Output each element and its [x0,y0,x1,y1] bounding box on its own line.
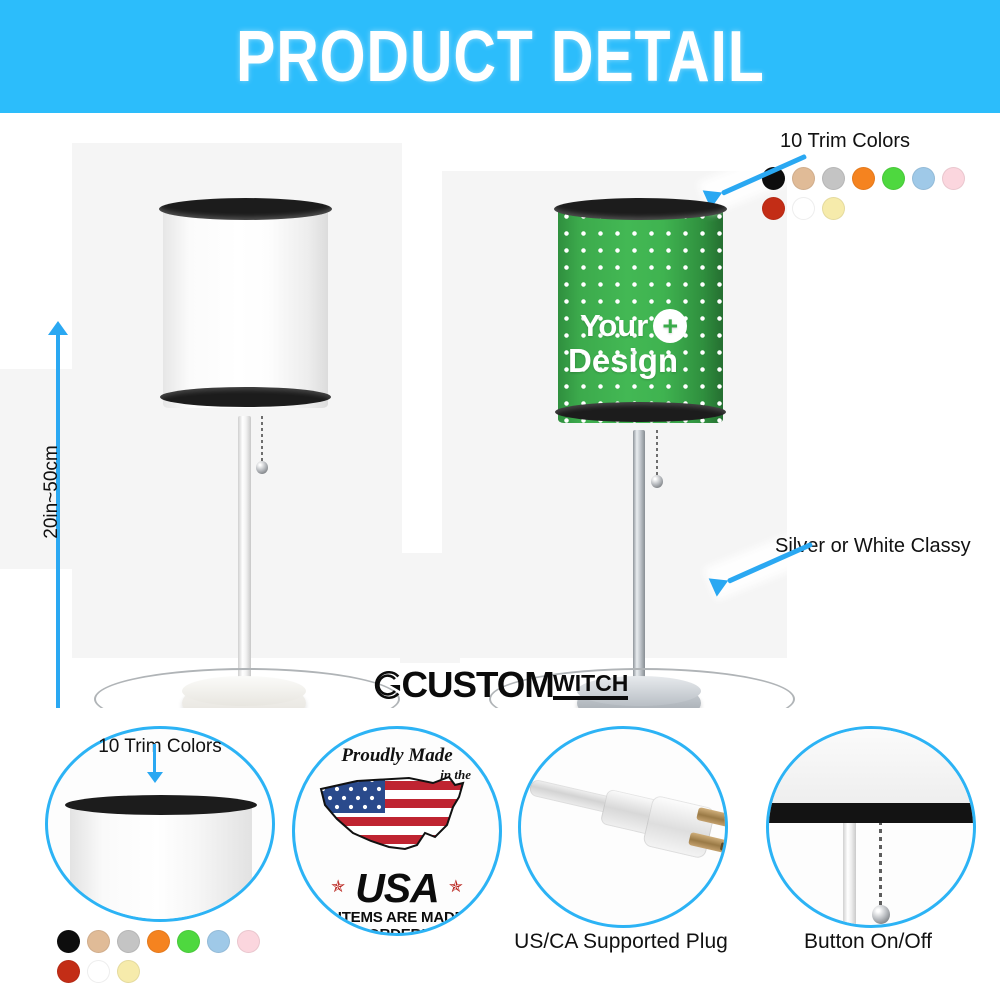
trim-color-swatch-orange[interactable] [852,167,875,190]
lamp-shade-green: Your + Design [558,198,723,413]
trim-color-swatch-light-blue[interactable] [207,930,230,953]
pull-chain[interactable] [656,430,658,478]
shade-trim-top [554,198,727,220]
feature-caption: Button On/Off [756,930,980,954]
trim-color-swatch-yellow[interactable] [822,197,845,220]
shade-surface [766,729,976,805]
badge-word: USA [295,865,499,912]
pull-chain[interactable] [261,416,263,464]
pull-chain-ball[interactable] [872,905,890,924]
feature-circle [766,726,976,928]
shade-trim-top [159,198,332,220]
lamp-pole [843,821,856,928]
design-line-1: Your [580,309,648,343]
shade-surface [70,803,252,922]
trim-color-swatch-gray[interactable] [117,930,140,953]
shade-surface [163,208,328,408]
design-line-1-row: Your + [558,309,723,343]
feature-caption: US/CA Supported Plug [500,930,742,954]
trim-color-swatch-red[interactable] [57,960,80,983]
pull-chain[interactable] [879,821,882,907]
trim-color-swatch-orange[interactable] [147,930,170,953]
trim-color-swatch-tan[interactable] [87,930,110,953]
brand-logo: CUSTOM WITCH [0,662,1000,708]
your-design-placeholder: Your + Design [558,309,723,379]
shade-trim-top [65,795,257,815]
bg-tile [400,553,460,663]
feature-circle [518,726,728,928]
logo-secondary-wrap: WITCH [553,671,628,700]
trim-color-swatch-pink[interactable] [237,930,260,953]
lamp-white [100,198,400,638]
product-stage: 7in~18cm 20in~50cm Your + [0,113,1000,660]
feature-switch: Button On/Off [766,718,991,1000]
pull-chain-ball[interactable] [651,475,663,488]
header-banner: PRODUCT DETAIL [0,0,1000,113]
star-right-icon: ✯ [449,877,463,897]
trim-color-swatch-green[interactable] [177,930,200,953]
pointer-line [153,744,156,774]
usa-flag-map-icon [313,763,483,863]
feature-made-in-usa: Proudly Made in the [292,718,502,1000]
logo-primary-text: CUSTOM [401,664,553,706]
badge-subtext: ALL ITEMS ARE MADE TO ORDER! [295,909,499,936]
trim-color-swatch-gray[interactable] [822,167,845,190]
feature-panels: 10 Trim Colors Proudly Made in the [0,708,1000,1000]
height-dimension-label: 20in~50cm [41,392,63,592]
trim-color-swatch-light-blue[interactable] [912,167,935,190]
logo-secondary-text: WITCH [553,671,628,695]
plus-icon: + [653,309,687,343]
trim-color-swatch-white[interactable] [87,960,110,983]
design-line-2: Design [558,343,723,379]
lamp-shade-white [163,198,328,398]
trim-color-swatch-black[interactable] [57,930,80,953]
trim-color-swatch-yellow[interactable] [117,960,140,983]
trim-color-swatch-green[interactable] [882,167,905,190]
base-finish-arrow [706,547,826,591]
shade-trim-bottom [160,387,331,407]
trim-colors-title: 10 Trim Colors [780,130,910,153]
trim-color-swatch-pink[interactable] [942,167,965,190]
feature-trim-colors: 10 Trim Colors [45,718,275,1000]
trim-colors-swatches-bottom [57,930,289,983]
arrow-line [721,154,807,196]
trim-colors-arrow [700,161,820,201]
feature-title: 10 Trim Colors [45,736,275,758]
pull-chain-ball[interactable] [256,461,268,474]
arrow-down-icon [147,772,163,783]
power-plug-icon [642,794,716,859]
page-title: PRODUCT DETAIL [236,16,765,98]
logo-underline [553,696,628,700]
feature-circle: Proudly Made in the [292,726,502,936]
shade-trim-bottom [766,803,976,823]
arrow-line [727,542,813,584]
shade-trim-bottom [555,402,726,422]
feature-plug: US/CA Supported Plug [518,718,743,1000]
prong-hole [720,842,728,852]
